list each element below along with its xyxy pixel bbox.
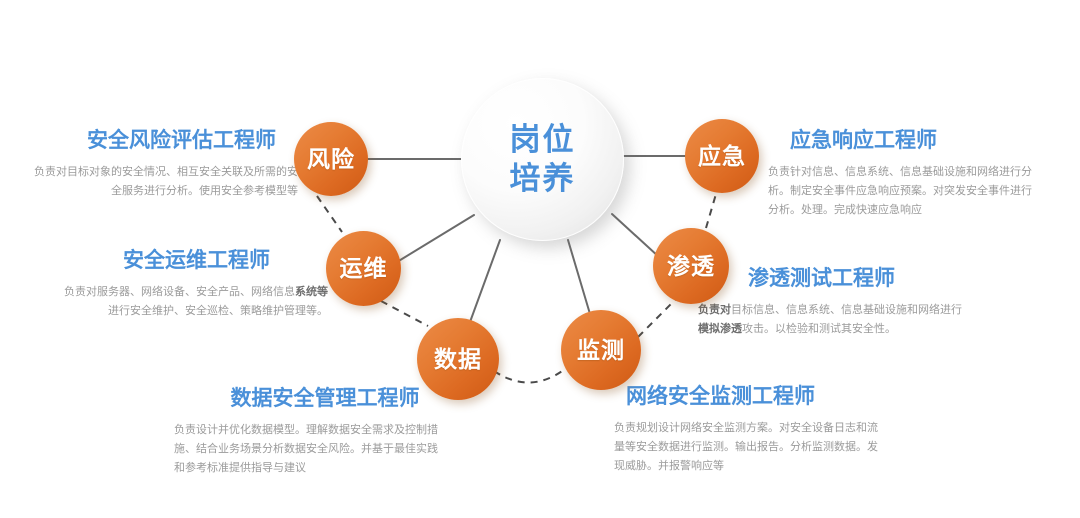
role-title-emergency: 应急响应工程师 [768, 129, 1068, 152]
node-pentest-label: 渗透 [667, 255, 715, 278]
role-title-ops: 安全运维工程师 [38, 249, 328, 272]
role-desc-data: 负责设计并优化数据模型。理解数据安全需求及控制措 施、结合业务场景分析数据安全风… [160, 421, 490, 478]
node-emerg-label: 应急 [698, 145, 746, 168]
role-desc-emergency-line3: 分析。处理。完成快速应急响应 [768, 204, 922, 216]
node-monitor[interactable]: 监测 [561, 310, 641, 390]
role-title-pentest: 渗透测试工程师 [690, 267, 1010, 290]
diagram-canvas: 岗位 培养 风险 运维 数据 监测 渗透 应急 安全风险评估工程师 负责对目标对… [0, 0, 1080, 518]
role-desc-monitor-line3: 现威胁。并报警响应等 [614, 460, 724, 472]
role-desc-pentest-line2b: 攻击。以检验和测试其安全性。 [742, 323, 896, 335]
link-hub-data [470, 240, 500, 322]
link-risk-ops [317, 196, 342, 232]
role-desc-monitor-line1: 负责规划设计网络安全监测方案。对安全设备日志和流 [614, 422, 878, 434]
role-desc-ops: 负责对服务器、网络设备、安全产品、网络信息系统等 进行安全维护、安全巡检、策略维… [38, 283, 328, 321]
role-desc-risk-line1: 负责对目标对象的安全情况、相互安全关联及所需的安 [34, 166, 298, 178]
node-ops-label: 运维 [340, 257, 388, 280]
role-desc-risk: 负责对目标对象的安全情况、相互安全关联及所需的安 全服务进行分析。使用安全参考模… [8, 163, 298, 201]
link-pentest-emerg [706, 194, 716, 228]
role-desc-ops-line1b: 系统等 [295, 286, 328, 298]
node-data[interactable]: 数据 [417, 318, 499, 400]
role-block-ops: 安全运维工程师 负责对服务器、网络设备、安全产品、网络信息系统等 进行安全维护、… [38, 249, 328, 321]
role-block-monitor: 网络安全监测工程师 负责规划设计网络安全监测方案。对安全设备日志和流 量等安全数… [600, 385, 930, 476]
role-desc-monitor: 负责规划设计网络安全监测方案。对安全设备日志和流 量等安全数据进行监测。输出报告… [600, 419, 930, 476]
hub-label-line1: 岗位 [510, 121, 576, 159]
role-desc-pentest-line1a: 负责对 [698, 304, 731, 316]
node-emerg[interactable]: 应急 [685, 119, 759, 193]
node-ops[interactable]: 运维 [326, 231, 401, 306]
role-desc-pentest: 负责对目标信息、信息系统、信息基础设施和网络进行 模拟渗透攻击。以检验和测试其安… [690, 301, 1010, 339]
role-desc-data-line3: 和参考标准提供指导与建议 [174, 462, 306, 474]
role-desc-emergency: 负责针对信息、信息系统、信息基础设施和网络进行分 析。制定安全事件应急响应预案。… [768, 163, 1068, 220]
role-desc-pentest-line1b: 目标信息、信息系统、信息基础设施和网络进行 [731, 304, 962, 316]
link-hub-monitor [568, 240, 590, 314]
node-risk-label: 风险 [307, 148, 355, 171]
node-pentest[interactable]: 渗透 [653, 228, 729, 304]
role-desc-data-line2: 施、结合业务场景分析数据安全风险。并基于最佳实践 [174, 443, 438, 455]
node-risk[interactable]: 风险 [294, 122, 368, 196]
role-desc-emergency-line1: 负责针对信息、信息系统、信息基础设施和网络进行分 [768, 166, 1032, 178]
role-desc-risk-line2: 全服务进行分析。使用安全参考模型等 [111, 185, 298, 197]
role-block-risk: 安全风险评估工程师 负责对目标对象的安全情况、相互安全关联及所需的安 全服务进行… [8, 129, 298, 201]
role-desc-ops-line1a: 负责对服务器、网络设备、安全产品、网络信息 [64, 286, 295, 298]
hub-node[interactable]: 岗位 培养 [461, 78, 624, 241]
link-hub-pentest [612, 214, 659, 257]
role-block-data: 数据安全管理工程师 负责设计并优化数据模型。理解数据安全需求及控制措 施、结合业… [160, 387, 490, 478]
role-title-monitor: 网络安全监测工程师 [600, 385, 930, 408]
link-data-monitor [494, 369, 565, 383]
role-desc-ops-line2: 进行安全维护、安全巡检、策略维护管理等。 [108, 305, 328, 317]
link-hub-ops [397, 215, 474, 262]
role-desc-data-line1: 负责设计并优化数据模型。理解数据安全需求及控制措 [174, 424, 438, 436]
role-desc-monitor-line2: 量等安全数据进行监测。输出报告。分析监测数据。发 [614, 441, 878, 453]
role-desc-emergency-line2: 析。制定安全事件应急响应预案。对突发安全事件进行 [768, 185, 1032, 197]
role-desc-pentest-line2a: 模拟渗透 [698, 323, 742, 335]
hub-label-line2: 培养 [510, 160, 576, 198]
role-block-emergency: 应急响应工程师 负责针对信息、信息系统、信息基础设施和网络进行分 析。制定安全事… [768, 129, 1068, 220]
role-title-risk: 安全风险评估工程师 [8, 129, 298, 152]
node-monitor-label: 监测 [577, 339, 625, 362]
role-block-pentest: 渗透测试工程师 负责对目标信息、信息系统、信息基础设施和网络进行 模拟渗透攻击。… [690, 267, 1010, 339]
link-monitor-pentest [638, 299, 676, 337]
link-ops-data [381, 301, 428, 326]
node-data-label: 数据 [434, 348, 482, 371]
